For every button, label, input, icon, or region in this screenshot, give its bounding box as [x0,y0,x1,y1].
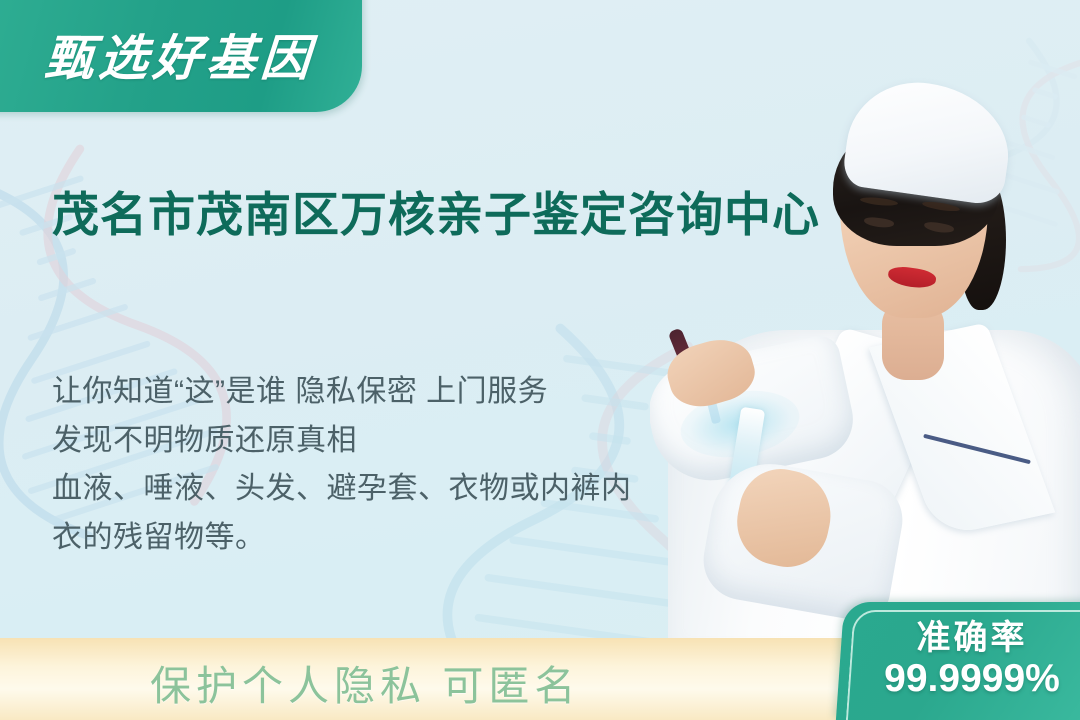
promo-banner: 甄选好基因 茂名市茂南区万核亲子鉴定咨询中心 让你知道“这”是谁 隐私保密 上门… [0,0,1080,720]
brand-tab-label: 甄选好基因 [43,19,318,90]
footer-slogan: 保护个人隐私 可匿名 [150,652,580,712]
accuracy-badge-content: 准确率 99.9999% [840,602,1080,720]
brand-tab[interactable]: 甄选好基因 [0,0,362,112]
nurse-cap [841,73,1017,206]
accuracy-badge-label: 准确率 [917,620,1028,657]
body-copy-line-4: 衣的残留物等。 [52,514,752,563]
accuracy-badge: 准确率 99.9999% [836,602,1080,720]
body-copy-line-3: 血液、唾液、头发、避孕套、衣物或内裤内 [52,465,752,514]
body-copy: 让你知道“这”是谁 隐私保密 上门服务 发现不明物质还原真相 血液、唾液、头发、… [52,368,752,562]
accuracy-badge-value: 99.9999% [884,657,1060,702]
body-copy-line-1: 让你知道“这”是谁 隐私保密 上门服务 [52,368,752,417]
body-copy-line-2: 发现不明物质还原真相 [52,417,752,466]
page-title: 茂名市茂南区万核亲子鉴定咨询中心 [52,183,852,247]
